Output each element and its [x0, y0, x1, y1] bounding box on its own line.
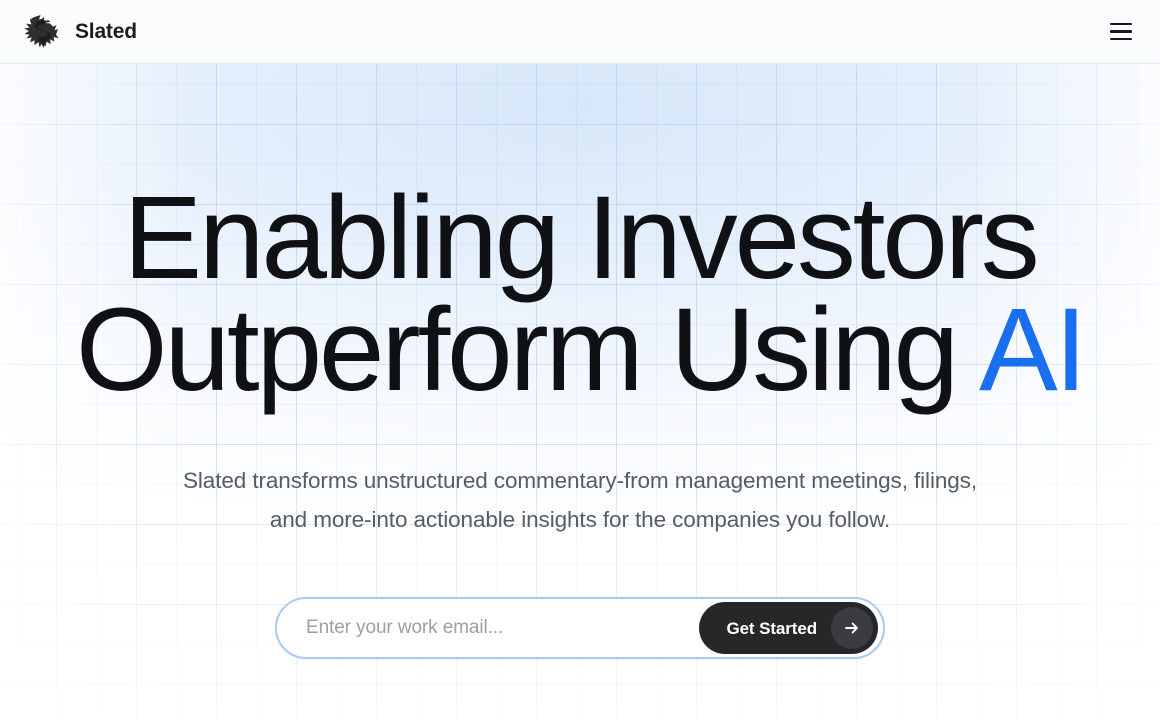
- arrow-right-icon: [831, 607, 873, 649]
- headline-accent-ai: AI: [979, 284, 1084, 416]
- headline-line-2-text: Outperform Using: [76, 284, 979, 416]
- brand-name: Slated: [75, 21, 137, 42]
- headline-line-2: Outperform Using AI: [20, 294, 1140, 406]
- site-header: Slated: [0, 0, 1160, 64]
- hamburger-menu-icon[interactable]: [1104, 15, 1138, 49]
- hero-content: Enabling Investors Outperform Using AI S…: [0, 64, 1160, 720]
- email-capture-form: Get Started: [275, 597, 885, 659]
- email-input[interactable]: [277, 601, 699, 655]
- get-started-button[interactable]: Get Started: [699, 602, 878, 654]
- headline-line-1: Enabling Investors: [20, 182, 1140, 294]
- menu-line: [1110, 38, 1132, 41]
- page-title: Enabling Investors Outperform Using AI: [20, 182, 1140, 406]
- brand-logo[interactable]: Slated: [20, 10, 137, 54]
- slated-logo-mark-icon: [20, 10, 64, 54]
- menu-line: [1110, 30, 1132, 33]
- landing-page: Slated Enabling Investors Outperform Usi…: [0, 0, 1160, 720]
- menu-line: [1110, 23, 1132, 26]
- hero-subheadline: Slated transforms unstructured commentar…: [165, 462, 995, 539]
- hero-section: Enabling Investors Outperform Using AI S…: [0, 64, 1160, 720]
- get-started-label: Get Started: [726, 620, 817, 637]
